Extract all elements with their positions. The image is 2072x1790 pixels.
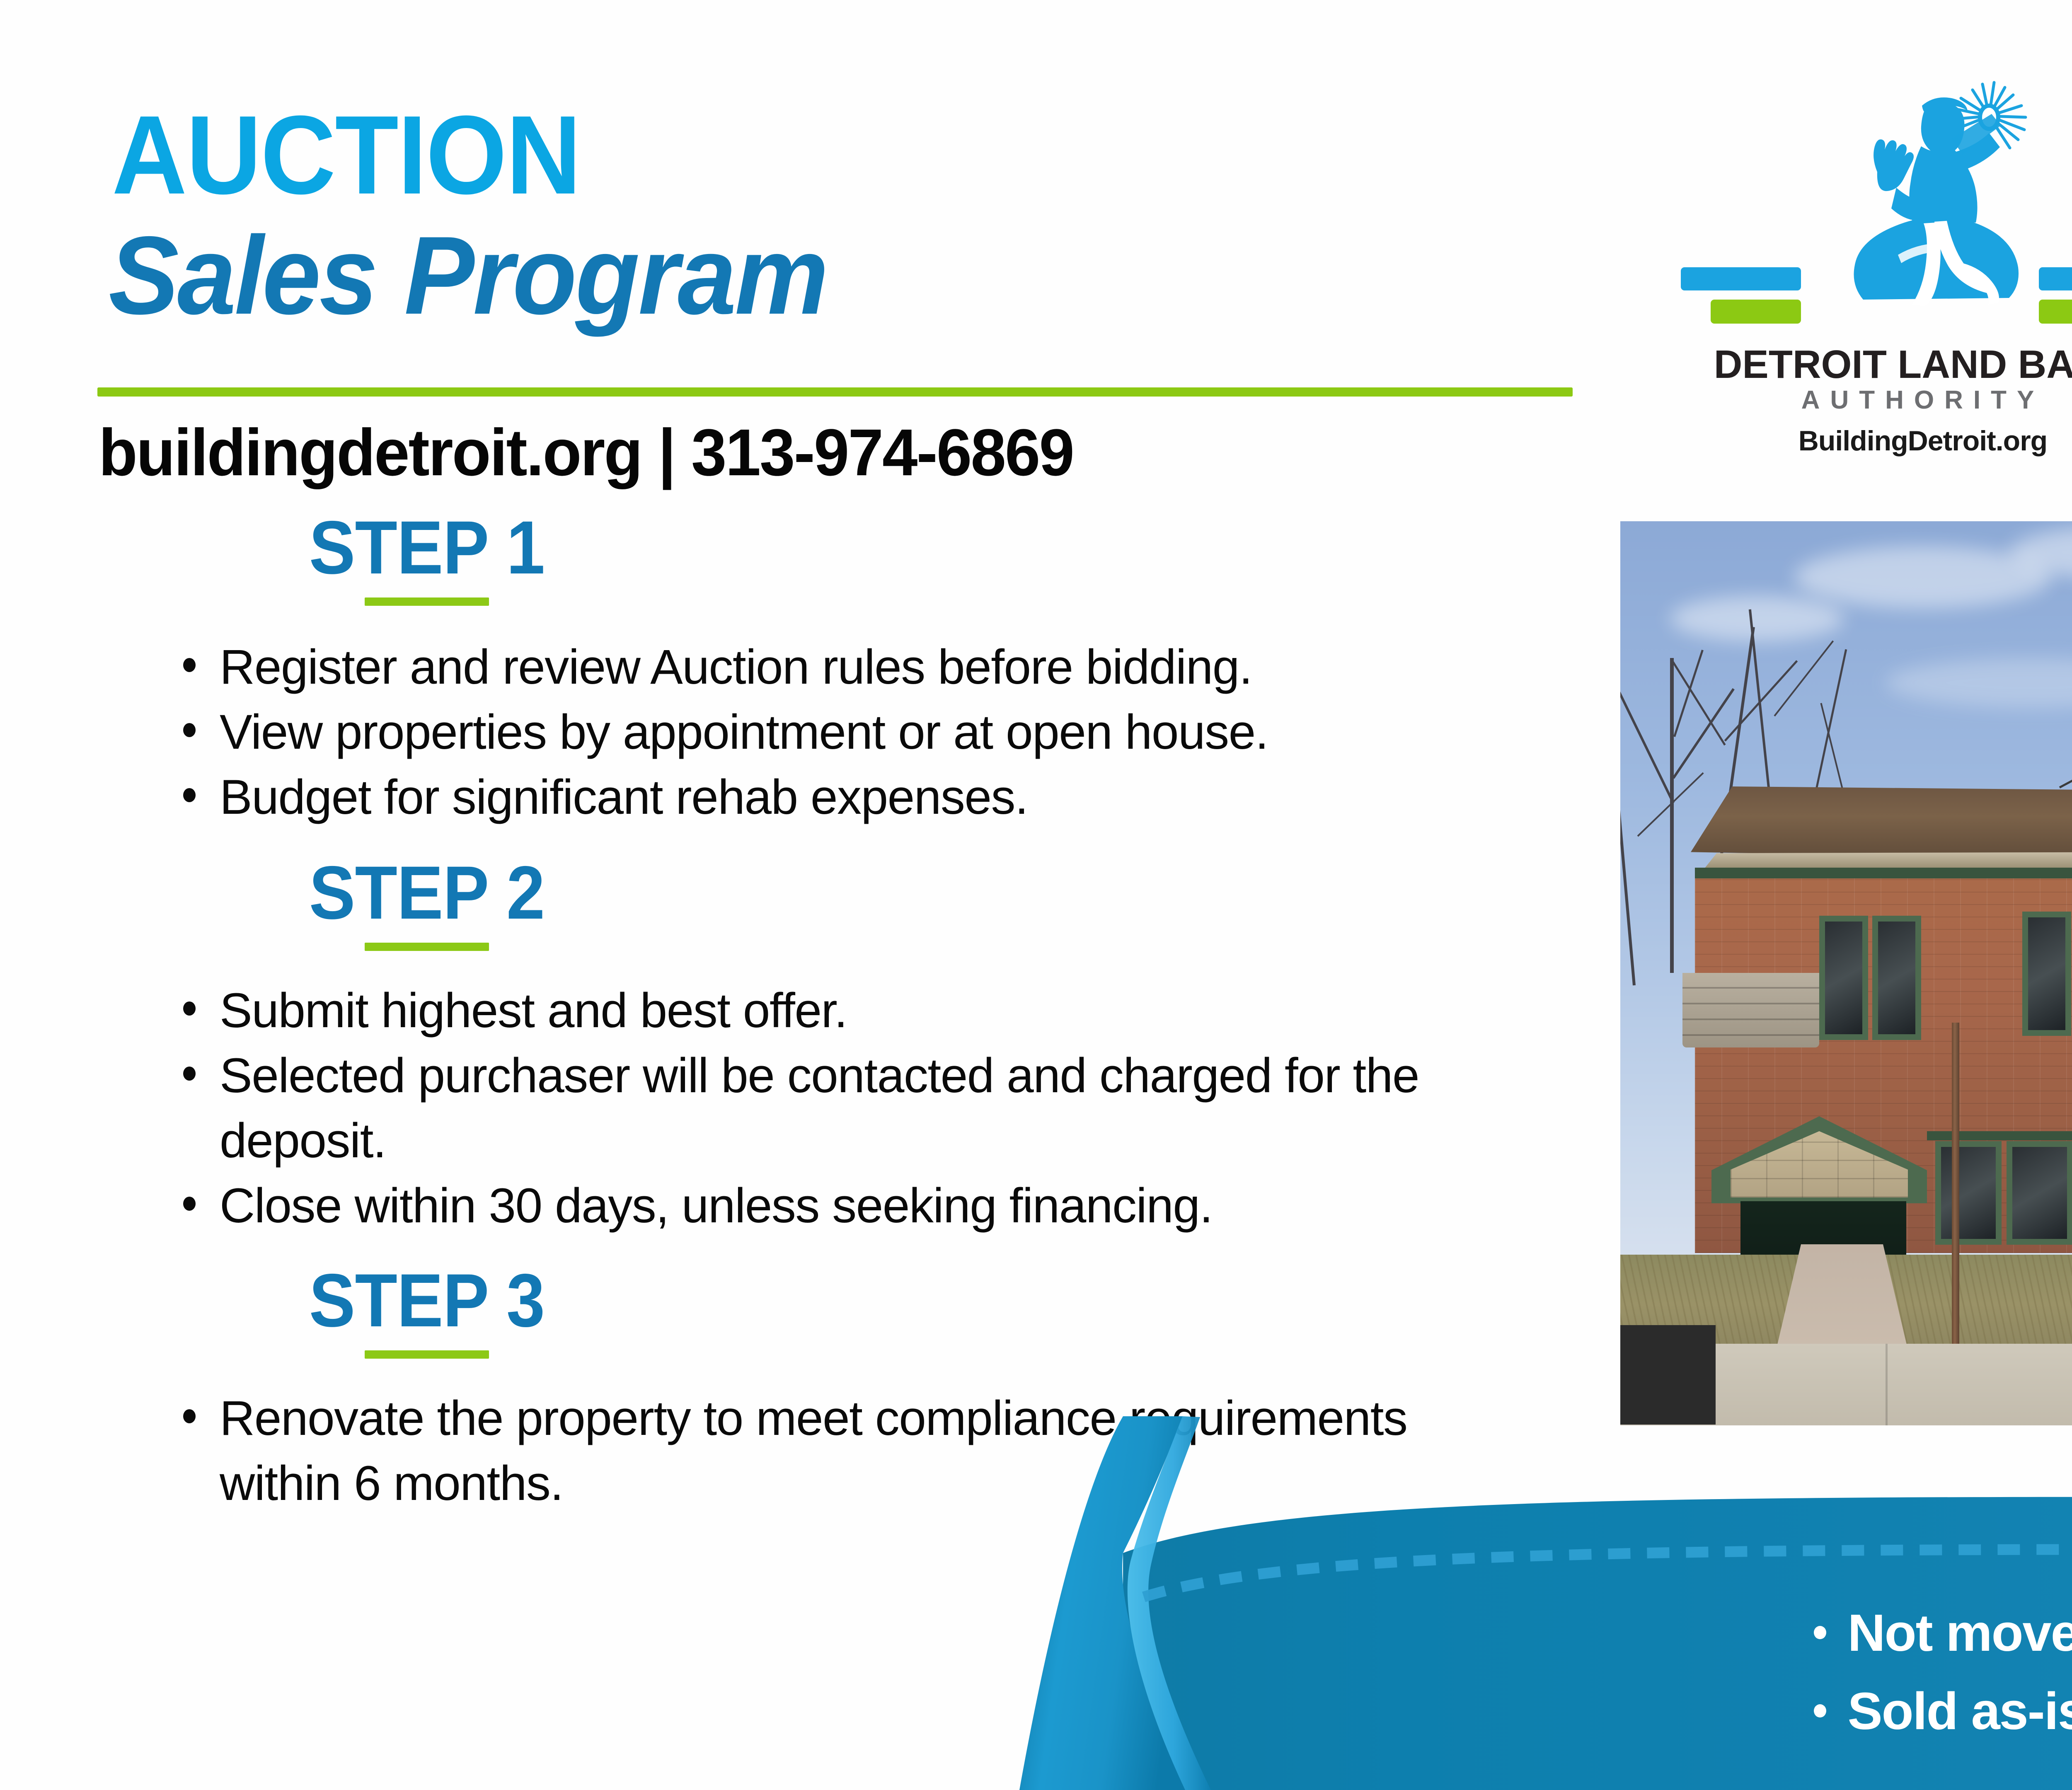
property-photo xyxy=(1620,521,2072,1425)
list-item: View properties by appointment or at ope… xyxy=(157,700,1496,765)
cloud xyxy=(1670,596,1844,641)
trim xyxy=(1695,868,2072,878)
contact-info[interactable]: buildingdetroit.org | 313-974-6869 xyxy=(99,414,1073,491)
step-2-underline xyxy=(365,943,489,951)
metal-post xyxy=(1952,1023,1959,1354)
brick-facade xyxy=(1695,868,2072,1253)
list-item: Sold as-is, where-is xyxy=(1802,1682,2072,1740)
logo-bar-blue-right xyxy=(2039,267,2072,290)
window xyxy=(2007,1141,2072,1245)
foreground-dark-object xyxy=(1620,1325,1716,1425)
step-block-1: STEP 1 Register and review Auction rules… xyxy=(0,510,1558,830)
window xyxy=(1935,1141,2002,1245)
window xyxy=(2022,912,2071,1036)
logo-bar-green-left xyxy=(1711,300,1801,324)
concrete-steps xyxy=(1682,973,1819,1047)
step-1-list: Register and review Auction rules before… xyxy=(0,635,1558,830)
logo-name: DETROIT LAND BANK xyxy=(1681,342,2072,387)
step-1-underline xyxy=(365,597,489,606)
list-item: Selected purchaser will be contacted and… xyxy=(157,1043,1496,1173)
porch-stonework xyxy=(1731,1131,1908,1197)
logo: DETROIT LAND BANK AUTHORITY BuildingDetr… xyxy=(1678,77,2072,445)
ribbon-banner: Not move-in ready Sold as-is, where-is xyxy=(1019,1416,2072,1790)
logo-url[interactable]: BuildingDetroit.org xyxy=(1678,425,2072,457)
step-1-heading: STEP 1 xyxy=(34,510,819,585)
step-3-underline xyxy=(365,1350,489,1359)
step-3-heading: STEP 3 xyxy=(34,1263,819,1338)
page-title-sales-program: Sales Program xyxy=(109,220,827,331)
roof xyxy=(1691,786,2072,861)
logo-bar-green-right xyxy=(2039,300,2072,324)
list-item: Budget for significant rehab expenses. xyxy=(157,765,1496,830)
step-2-list: Submit highest and best offer. Selected … xyxy=(0,978,1558,1238)
steps-section: STEP 1 Register and review Auction rules… xyxy=(0,510,1558,1516)
window xyxy=(1872,916,1921,1040)
trim xyxy=(1927,1131,2072,1140)
logo-subtitle: AUTHORITY xyxy=(1678,385,2072,415)
window xyxy=(1819,916,1868,1040)
page-title-auction: AUCTION xyxy=(112,99,581,211)
logo-bars-left xyxy=(1681,267,1818,329)
list-item: Close within 30 days, unless seeking fin… xyxy=(157,1173,1496,1238)
step-2-heading: STEP 2 xyxy=(34,855,819,930)
list-item: Submit highest and best offer. xyxy=(157,978,1496,1043)
spirit-of-detroit-figure-icon xyxy=(1815,77,2031,325)
step-block-2: STEP 2 Submit highest and best offer. Se… xyxy=(0,855,1558,1238)
title-divider-rule xyxy=(97,387,1573,397)
logo-bars-right xyxy=(2022,267,2072,329)
list-item: Not move-in ready xyxy=(1802,1604,2072,1662)
list-item: Register and review Auction rules before… xyxy=(157,635,1496,700)
header: AUCTION Sales Program buildingdetroit.or… xyxy=(0,0,2072,497)
ribbon-notes: Not move-in ready Sold as-is, where-is xyxy=(1802,1604,2072,1740)
logo-bar-blue-left xyxy=(1681,267,1801,290)
